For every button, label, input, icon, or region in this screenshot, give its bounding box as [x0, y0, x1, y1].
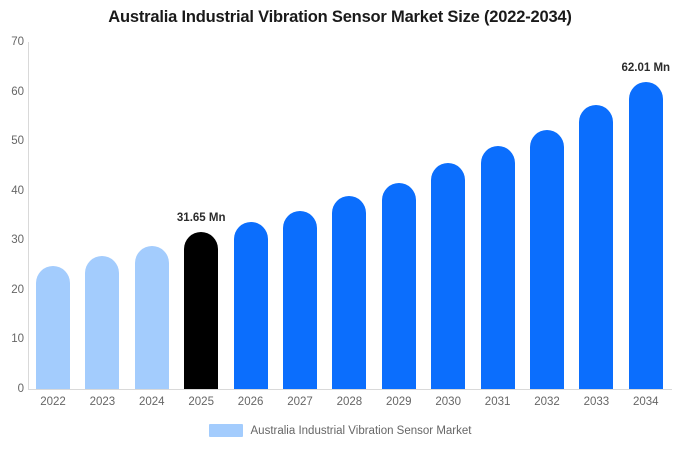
bar-chart: Australia Industrial Vibration Sensor Ma…	[0, 0, 680, 450]
bar-slot	[530, 130, 564, 389]
bar-2028[interactable]	[332, 196, 366, 389]
bar-2034[interactable]	[629, 82, 663, 389]
y-axis-tick: 40	[0, 185, 24, 197]
bar-slot	[332, 196, 366, 389]
bar-slot	[234, 222, 268, 389]
bar-2024[interactable]	[135, 246, 169, 389]
bar-value-label-2025: 31.65 Mn	[177, 212, 226, 224]
bar-slot	[431, 163, 465, 389]
bar-slot: 31.65 Mn	[184, 232, 218, 389]
bar-2031[interactable]	[481, 146, 515, 389]
y-axis-tick: 60	[0, 86, 24, 98]
bar-2027[interactable]	[283, 211, 317, 389]
bar-2030[interactable]	[431, 163, 465, 389]
bar-slot	[382, 183, 416, 389]
bar-2026[interactable]	[234, 222, 268, 389]
chart-title: Australia Industrial Vibration Sensor Ma…	[0, 8, 680, 27]
chart-legend: Australia Industrial Vibration Sensor Ma…	[0, 424, 680, 437]
bar-slot: 62.01 Mn	[629, 82, 663, 389]
bar-slot	[481, 146, 515, 389]
bar-value-label-2034: 62.01 Mn	[622, 62, 671, 74]
bar-2033[interactable]	[579, 105, 613, 389]
bar-2025[interactable]	[184, 232, 218, 389]
y-axis-tick: 10	[0, 333, 24, 345]
legend-label: Australia Industrial Vibration Sensor Ma…	[251, 425, 472, 437]
y-axis-tick-labels: 010203040506070	[0, 0, 24, 450]
y-axis-tick: 50	[0, 135, 24, 147]
bar-2023[interactable]	[85, 256, 119, 389]
bar-slot	[85, 256, 119, 389]
x-axis-tick-2034: 2034	[616, 396, 676, 408]
y-axis-tick: 70	[0, 36, 24, 48]
bar-slot	[135, 246, 169, 389]
x-axis-line	[28, 389, 672, 390]
bar-slot	[579, 105, 613, 389]
y-axis-tick: 30	[0, 234, 24, 246]
bar-2022[interactable]	[36, 266, 70, 389]
y-axis-tick: 20	[0, 284, 24, 296]
bar-slot	[36, 266, 70, 389]
y-axis-line	[28, 42, 29, 389]
y-axis-tick: 0	[0, 383, 24, 395]
bar-2029[interactable]	[382, 183, 416, 389]
legend-swatch-icon	[209, 424, 243, 437]
bar-2032[interactable]	[530, 130, 564, 389]
bar-slot	[283, 211, 317, 389]
